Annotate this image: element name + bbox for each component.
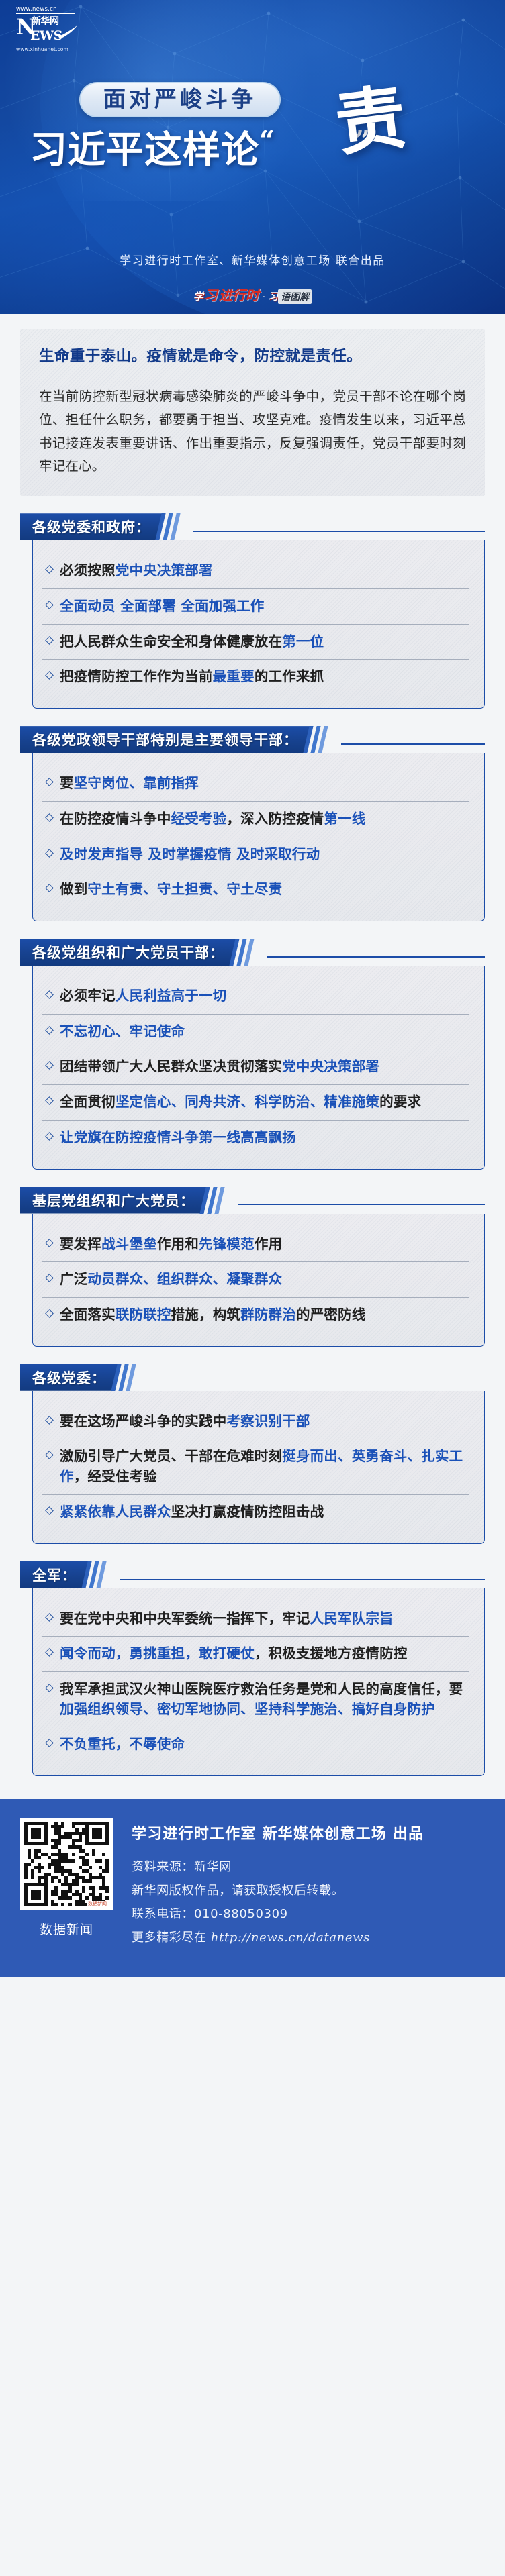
section-rule (238, 1204, 485, 1206)
intro-card: 生命重于泰山。疫情就是命令，防控就是责任。 在当前防控新型冠状病毒感染肺炎的严峻… (20, 329, 485, 496)
bullet-text: 我军承担武汉火神山医院医疗救治任务是党和人民的高度信任，要加强组织领导、密切军地… (60, 1680, 467, 1719)
footer-more-url[interactable]: http://news.cn/datanews (211, 1930, 370, 1945)
bullet-plain: 的严密防线 (296, 1306, 366, 1323)
bullet-highlight: 先锋模范 (199, 1236, 255, 1252)
bullet-highlight: 紧紧依靠人民群众 (60, 1504, 171, 1520)
sections-container: 各级党委和政府：必须按照党中央决策部署全面动员 全面部署 全面加强工作把人民群众… (20, 513, 485, 1776)
logo-chinese-name: 新华网 (32, 17, 59, 27)
diamond-bullet-icon (45, 1648, 54, 1657)
bullet-plain: 我军承担武汉火神山医院医疗救治任务是党和人民的高度信任，要 (60, 1681, 463, 1697)
section-rule (341, 743, 485, 745)
bullet-item: 全面落实联防联控措施，构筑群防群治的严密防线 (42, 1297, 469, 1333)
logo-url-top: www.news.cn (16, 6, 75, 14)
diamond-bullet-icon (45, 1026, 54, 1035)
brandmark-part-2: 习 (204, 285, 218, 304)
bullet-item: 全面贯彻坚定信心、同舟共济、科学防治、精准施策的要求 (42, 1084, 469, 1120)
bullet-item: 及时发声指导 及时掌握疫情 及时采取行动 (42, 837, 469, 872)
bullet-item: 广泛动员群众、组织群众、凝聚群众 (42, 1261, 469, 1297)
bullet-plain: 必须牢记 (60, 988, 116, 1004)
bullet-plain: 团结带领广大人民群众坚决贯彻落实 (60, 1058, 282, 1074)
hero-pill-title: 面对严峻斗争 (79, 82, 281, 117)
diamond-bullet-icon (45, 1132, 54, 1141)
section-stripes-decoration (203, 1187, 240, 1214)
bullet-text: 紧紧依靠人民群众坚决打赢疫情防控阻击战 (60, 1502, 324, 1523)
bullet-item: 要在党中央和中央军委统一指挥下，牢记人民军队宗旨 (42, 1602, 469, 1637)
section-rule (149, 1382, 485, 1383)
bullet-text: 不负重托，不辱使命 (60, 1735, 185, 1755)
bullet-highlight: 闻令而动，勇挑重担，敢打硬仗 (60, 1645, 255, 1661)
diamond-bullet-icon (45, 1239, 54, 1247)
section-header: 基层党组织和广大党员： (20, 1187, 485, 1214)
diamond-bullet-icon (45, 813, 54, 822)
section-body: 要坚守岗位、靠前指挥在防控疫情斗争中经受考验，深入防控疫情第一线及时发声指导 及… (32, 753, 485, 921)
bullet-highlight: 考察识别干部 (226, 1413, 310, 1429)
bullet-item: 把人民群众生命安全和身体健康放在第一位 (42, 624, 469, 660)
footer-source: 资料来源：新华网 (132, 1855, 485, 1879)
hero-title-main-text: 习近平这样论 (30, 129, 259, 172)
qr-label: 数据新闻 (20, 1920, 113, 1938)
logo-mark: N 新华网 EWS (16, 16, 78, 46)
bullet-plain: 坚决打赢疫情防控阻击战 (171, 1504, 324, 1520)
hero-subtitle: 学习进行时工作室、新华媒体创意工场 联合出品 (0, 251, 505, 268)
section-stripes-decoration (85, 1561, 122, 1588)
bullet-highlight: 联防联控 (116, 1306, 171, 1323)
bullet-highlight: 全面动员 全面部署 全面加强工作 (60, 598, 264, 614)
bullet-item: 让党旗在防控疫情斗争第一线高高飘扬 (42, 1120, 469, 1155)
section-header: 各级党委： (20, 1364, 485, 1391)
bullet-text: 全面贯彻坚定信心、同舟共济、科学防治、精准施策的要求 (60, 1092, 421, 1113)
bullet-item: 要发挥战斗堡垒作用和先锋模范作用 (42, 1227, 469, 1262)
bullet-item: 闻令而动，勇挑重担，敢打硬仗，积极支援地方疫情防控 (42, 1636, 469, 1671)
diamond-bullet-icon (45, 990, 54, 999)
bullet-item: 激励引导广大党员、干部在危难时刻挺身而出、英勇奋斗、扎实工作，经受住考验 (42, 1439, 469, 1494)
section-title-banner: 基层党组织和广大党员： (20, 1187, 207, 1214)
bullet-plain: 要在这场严峻斗争的实践中 (60, 1413, 226, 1429)
section-rule (120, 1579, 485, 1580)
footer-title: 学习进行时工作室 新华媒体创意工场 出品 (132, 1822, 485, 1843)
bullet-text: 要坚守岗位、靠前指挥 (60, 774, 199, 794)
bullet-item: 不忘初心、牢记使命 (42, 1014, 469, 1049)
bullet-plain: 激励引导广大党员、干部在危难时刻 (60, 1448, 282, 1464)
section-header: 各级党政领导干部特别是主要领导干部： (20, 726, 485, 753)
xinhuanet-logo[interactable]: www.news.cn N 新华网 EWS www.xinhuanet.com (16, 6, 78, 52)
bullet-highlight: 战斗堡垒 (101, 1236, 157, 1252)
bullet-plain: 的工作来抓 (255, 668, 324, 684)
bullet-text: 必须按照党中央决策部署 (60, 561, 213, 581)
diamond-bullet-icon (45, 884, 54, 892)
bullet-highlight: 最重要 (213, 668, 255, 684)
section-rule (193, 531, 485, 532)
section-title-banner: 各级党委： (20, 1364, 118, 1391)
bullet-plain: 的要求 (379, 1094, 421, 1110)
qr-column: 数据新闻 数据新闻 (20, 1818, 113, 1938)
brandmark-part-5: 语图解 (278, 289, 312, 304)
bullet-plain: 要在党中央和中央军委统一指挥下，牢记 (60, 1610, 310, 1627)
section-body: 必须按照党中央决策部署全面动员 全面部署 全面加强工作把人民群众生命安全和身体健… (32, 540, 485, 709)
qr-code-matrix (24, 1822, 109, 1906)
bullet-highlight: 让党旗在防控疫情斗争第一线高高飘扬 (60, 1129, 296, 1145)
section-stripes-decoration (158, 513, 196, 540)
bullet-item: 紧紧依靠人民群众坚决打赢疫情防控阻击战 (42, 1494, 469, 1530)
content-body: 生命重于泰山。疫情就是命令，防控就是责任。 在当前防控新型冠状病毒感染肺炎的严峻… (0, 314, 505, 1799)
bullet-text: 做到守土有责、守土担责、守土尽责 (60, 880, 282, 900)
bullet-highlight: 第一位 (282, 633, 324, 650)
section: 各级党委和政府：必须按照党中央决策部署全面动员 全面部署 全面加强工作把人民群众… (20, 513, 485, 709)
logo-url-bottom: www.xinhuanet.com (16, 46, 78, 52)
bullet-plain: 必须按照 (60, 562, 116, 578)
bullet-highlight: 党中央决策部署 (116, 562, 213, 578)
swoosh-icon (58, 25, 78, 40)
section: 各级党组织和广大党员干部：必须牢记人民利益高于一切不忘初心、牢记使命团结带领广大… (20, 939, 485, 1170)
diamond-bullet-icon (45, 778, 54, 786)
bullet-text: 全面落实联防联控措施，构筑群防群治的严密防线 (60, 1305, 365, 1325)
section: 各级党政领导干部特别是主要领导干部：要坚守岗位、靠前指挥在防控疫情斗争中经受考验… (20, 726, 485, 921)
bullet-highlight: 人民军队宗旨 (310, 1610, 394, 1627)
diamond-bullet-icon (45, 1739, 54, 1748)
bullet-text: 不忘初心、牢记使命 (60, 1022, 185, 1042)
bullet-text: 团结带领广大人民群众坚决贯彻落实党中央决策部署 (60, 1057, 379, 1077)
bullet-item: 我军承担武汉火神山医院医疗救治任务是党和人民的高度信任，要加强组织领导、密切军地… (42, 1671, 469, 1727)
brandmark-part-4: 习 (268, 289, 278, 303)
section: 全军：要在党中央和中央军委统一指挥下，牢记人民军队宗旨闻令而动，勇挑重担，敢打硬… (20, 1561, 485, 1777)
bullet-text: 把疫情防控工作作为当前最重要的工作来抓 (60, 667, 324, 687)
diamond-bullet-icon (45, 1613, 54, 1622)
hero-title-main: 习近平这样论“” (30, 127, 371, 170)
section: 各级党委：要在这场严峻斗争的实践中考察识别干部激励引导广大党员、干部在危难时刻挺… (20, 1364, 485, 1544)
section-title-banner: 全军： (20, 1561, 89, 1588)
qr-caption: 数据新闻 (87, 1901, 108, 1906)
diamond-bullet-icon (45, 636, 54, 645)
section-header: 全军： (20, 1561, 485, 1588)
bullet-item: 做到守土有责、守土担责、守土尽责 (42, 872, 469, 907)
bullet-text: 广泛动员群众、组织群众、凝聚群众 (60, 1270, 282, 1290)
section-header: 各级党组织和广大党员干部： (20, 939, 485, 966)
bullet-item: 要在这场严峻斗争的实践中考察识别干部 (42, 1404, 469, 1439)
diamond-bullet-icon (45, 1451, 54, 1460)
bullet-item: 必须牢记人民利益高于一切 (42, 979, 469, 1014)
bullet-text: 闻令而动，勇挑重担，敢打硬仗，积极支援地方疫情防控 (60, 1644, 408, 1664)
footer-more: 更多精彩尽在 http://news.cn/datanews (132, 1926, 485, 1949)
bullet-text: 在防控疫情斗争中经受考验，深入防控疫情第一线 (60, 809, 365, 829)
diamond-bullet-icon (45, 1062, 54, 1070)
section-stripes-decoration (114, 1364, 152, 1391)
bullet-text: 让党旗在防控疫情斗争第一线高高飘扬 (60, 1128, 296, 1148)
bullet-highlight: 人民利益高于一切 (116, 988, 227, 1004)
bullet-highlight: 群防群治 (240, 1306, 296, 1323)
hero-banner: www.news.cn N 新华网 EWS www.xinhuanet.com … (0, 0, 505, 314)
bullet-text: 及时发声指导 及时掌握疫情 及时采取行动 (60, 845, 320, 865)
bullet-highlight: 不负重托，不辱使命 (60, 1736, 185, 1752)
infographic-page: www.news.cn N 新华网 EWS www.xinhuanet.com … (0, 0, 505, 2576)
footer-copyright: 新华网版权作品，请获取授权后转载。 (132, 1879, 485, 1902)
bullet-text: 激励引导广大党员、干部在危难时刻挺身而出、英勇奋斗、扎实工作，经受住考验 (60, 1447, 467, 1486)
bullet-text: 全面动员 全面部署 全面加强工作 (60, 597, 264, 617)
section-title-banner: 各级党组织和广大党员干部： (20, 939, 236, 966)
bullet-text: 必须牢记人民利益高于一切 (60, 986, 226, 1007)
intro-body-text: 在当前防控新型冠状病毒感染肺炎的严峻斗争中，党员干部不论在哪个岗位、担任什么职务… (39, 385, 466, 478)
bullet-highlight: 坚守岗位、靠前指挥 (74, 775, 199, 791)
footer-text-column: 学习进行时工作室 新华媒体创意工场 出品 资料来源：新华网 新华网版权作品，请获… (132, 1818, 485, 1949)
bullet-highlight: 动员群众、组织群众、凝聚群众 (87, 1271, 282, 1287)
hero-title-accent: 责 (332, 82, 410, 160)
diamond-bullet-icon (45, 671, 54, 680)
footer-phone: 联系电话：010-88050309 (132, 1902, 485, 1926)
bullet-plain: 作用和 (157, 1236, 199, 1252)
program-brandmark: 学习进行时·习语图解 (0, 285, 505, 307)
bullet-plain: 广泛 (60, 1271, 87, 1287)
section-title-banner: 各级党政领导干部特别是主要领导干部： (20, 726, 310, 753)
bullet-highlight: 坚定信心、同舟共济、科学防治、精准施策 (116, 1094, 379, 1110)
bullet-item: 把疫情防控工作作为当前最重要的工作来抓 (42, 659, 469, 694)
bullet-item: 全面动员 全面部署 全面加强工作 (42, 588, 469, 624)
qr-code[interactable]: 数据新闻 (20, 1818, 113, 1910)
bullet-plain: 在防控疫情斗争中 (60, 811, 171, 827)
bullet-highlight: 守土有责、守土担责、守土尽责 (87, 881, 282, 897)
intro-divider (39, 376, 466, 376)
bullet-highlight: 及时发声指导 及时掌握疫情 及时采取行动 (60, 846, 320, 862)
section-stripes-decoration (306, 726, 344, 753)
diamond-bullet-icon (45, 1309, 54, 1318)
bullet-plain: 把人民群众生命安全和身体健康放在 (60, 633, 282, 650)
bullet-item: 不负重托，不辱使命 (42, 1727, 469, 1762)
bullet-highlight: 加强组织领导、密切军地协同、坚持科学施治、搞好自身防护 (60, 1701, 435, 1717)
brandmark-dot: · (263, 293, 265, 303)
bullet-plain: 作用 (255, 1236, 282, 1252)
diamond-bullet-icon (45, 1416, 54, 1425)
brandmark-part-3: 进行时 (219, 285, 259, 304)
bullet-text: 把人民群众生命安全和身体健康放在第一位 (60, 632, 324, 652)
bullet-plain: 全面落实 (60, 1306, 116, 1323)
bullet-plain: 要发挥 (60, 1236, 101, 1252)
bullet-highlight: 不忘初心、牢记使命 (60, 1023, 185, 1039)
bullet-plain: 把疫情防控工作作为当前 (60, 668, 213, 684)
bullet-plain: 措施，构筑 (171, 1306, 241, 1323)
diamond-bullet-icon (45, 1096, 54, 1105)
bullet-text: 要发挥战斗堡垒作用和先锋模范作用 (60, 1235, 282, 1255)
page-footer: 数据新闻 数据新闻 学习进行时工作室 新华媒体创意工场 出品 资料来源：新华网 … (0, 1799, 505, 1976)
diamond-bullet-icon (45, 849, 54, 858)
section-title-banner: 各级党委和政府： (20, 513, 163, 540)
quote-open-icon: “ (259, 125, 275, 156)
intro-lead-text: 生命重于泰山。疫情就是命令，防控就是责任。 (39, 346, 466, 366)
section-body: 要在党中央和中央军委统一指挥下，牢记人民军队宗旨闻令而动，勇挑重担，敢打硬仗，积… (32, 1588, 485, 1777)
bullet-plain: 全面贯彻 (60, 1094, 116, 1110)
diamond-bullet-icon (45, 1684, 54, 1692)
section-body: 必须牢记人民利益高于一切不忘初心、牢记使命团结带领广大人民群众坚决贯彻落实党中央… (32, 966, 485, 1170)
section-body: 要发挥战斗堡垒作用和先锋模范作用广泛动员群众、组织群众、凝聚群众全面落实联防联控… (32, 1214, 485, 1347)
bullet-item: 必须按照党中央决策部署 (42, 554, 469, 588)
bullet-highlight: 第一线 (324, 811, 365, 827)
bullet-text: 要在这场严峻斗争的实践中考察识别干部 (60, 1412, 310, 1432)
section-header: 各级党委和政府： (20, 513, 485, 540)
bullet-plain: ，经受住考验 (74, 1468, 157, 1484)
footer-more-prefix: 更多精彩尽在 (132, 1930, 211, 1945)
bullet-item: 要坚守岗位、靠前指挥 (42, 766, 469, 801)
section-stripes-decoration (232, 939, 270, 966)
diamond-bullet-icon (45, 601, 54, 609)
bullet-text: 要在党中央和中央军委统一指挥下，牢记人民军队宗旨 (60, 1609, 394, 1629)
bullet-plain: ，积极支援地方疫情防控 (255, 1645, 408, 1661)
bullet-plain: 要 (60, 775, 74, 791)
bullet-item: 在防控疫情斗争中经受考验，深入防控疫情第一线 (42, 801, 469, 837)
hero-pill-title-text: 面对严峻斗争 (103, 86, 257, 112)
diamond-bullet-icon (45, 1506, 54, 1515)
section-body: 要在这场严峻斗争的实践中考察识别干部激励引导广大党员、干部在危难时刻挺身而出、英… (32, 1391, 485, 1544)
diamond-bullet-icon (45, 565, 54, 574)
bullet-plain: 做到 (60, 881, 87, 897)
bullet-highlight: 党中央决策部署 (282, 1058, 379, 1074)
bullet-item: 团结带领广大人民群众坚决贯彻落实党中央决策部署 (42, 1049, 469, 1084)
bullet-highlight: 经受考验 (171, 811, 227, 827)
diamond-bullet-icon (45, 1274, 54, 1282)
section-rule (267, 956, 485, 958)
section: 基层党组织和广大党员：要发挥战斗堡垒作用和先锋模范作用广泛动员群众、组织群众、凝… (20, 1187, 485, 1347)
brandmark-part-1: 学 (193, 289, 203, 303)
bullet-plain: ，深入防控疫情 (226, 811, 324, 827)
